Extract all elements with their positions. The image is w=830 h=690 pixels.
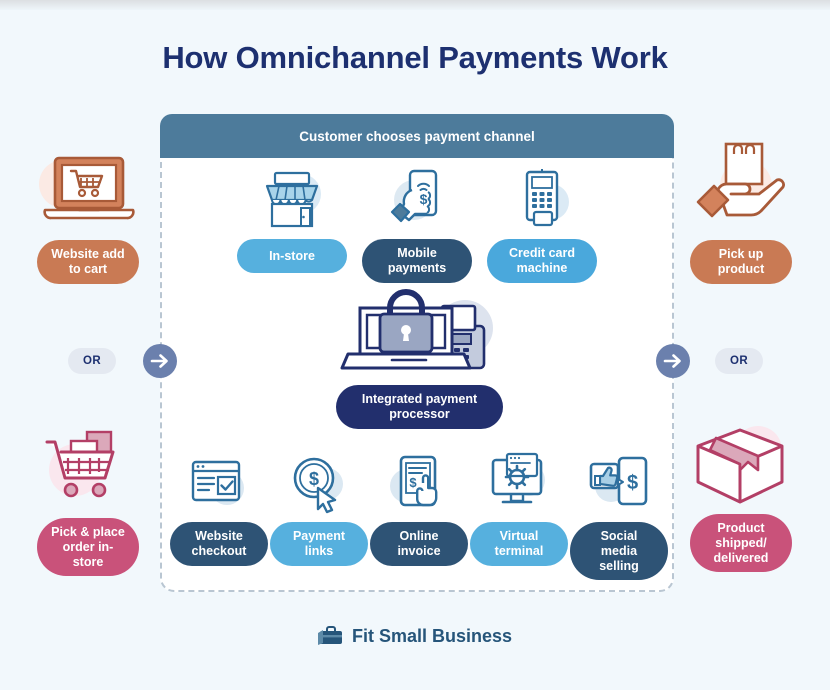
channel-in-store[interactable]: In-store (237, 168, 347, 273)
channel-credit-card-machine[interactable]: Credit card machine (487, 168, 597, 283)
browser-checklist-icon (185, 452, 253, 514)
storefront-icon (257, 168, 327, 230)
brand-name: Fit Small Business (352, 626, 512, 647)
channel-social-media-selling[interactable]: $ Social media selling (570, 452, 668, 580)
channel-online-invoice[interactable]: $ Online invoice (370, 452, 468, 566)
arrow-right-icon (656, 344, 690, 378)
page-title: How Omnichannel Payments Work (0, 40, 830, 76)
channel-credit-card-machine-label: Credit card machine (487, 239, 597, 283)
integrated-payment-processor[interactable]: Integrated payment processor (332, 290, 507, 429)
shipping-box-icon (688, 426, 794, 506)
arrow-right-icon (143, 344, 177, 378)
shopping-cart-icon (35, 430, 141, 510)
step-product-shipped-delivered[interactable]: Product shipped/ delivered (688, 426, 794, 572)
svg-text:$: $ (627, 472, 638, 494)
or-badge-right-label: OR (730, 355, 748, 367)
hand-bag-icon (688, 152, 794, 232)
channel-mobile-payments[interactable]: $ Mobile payments (362, 168, 472, 283)
step-pick-up-product-label: Pick up product (690, 240, 792, 284)
channel-website-checkout[interactable]: Website checkout (170, 452, 268, 566)
step-website-add-to-cart[interactable]: Website add to cart (35, 152, 141, 284)
tablet-invoice-hand-icon: $ (385, 452, 453, 514)
or-badge-left-label: OR (83, 355, 101, 367)
svg-text:$: $ (309, 469, 319, 489)
laptop-cart-icon (35, 152, 141, 232)
step-pick-place-order-in-store-label: Pick & place order in-store (37, 518, 139, 576)
channel-mobile-payments-label: Mobile payments (362, 239, 472, 283)
briefcase-icon (318, 625, 344, 647)
step-pick-up-product[interactable]: Pick up product (688, 152, 794, 284)
or-badge-right: OR (715, 348, 763, 374)
channel-virtual-terminal-label: Virtual terminal (470, 522, 568, 566)
coin-cursor-icon: $ (285, 452, 353, 514)
footer-brand: Fit Small Business (0, 625, 830, 647)
step-product-shipped-delivered-label: Product shipped/ delivered (690, 514, 792, 572)
channel-in-store-label: In-store (237, 239, 347, 273)
hand-phone-pay-icon: $ (382, 168, 452, 230)
channel-payment-links-label: Payment links (270, 522, 368, 566)
thumbs-up-phone-icon: $ (585, 452, 653, 514)
step-pick-place-order-in-store[interactable]: Pick & place order in-store (35, 430, 141, 576)
channel-payment-links[interactable]: $ Payment links (270, 452, 368, 566)
channel-social-media-selling-label: Social media selling (570, 522, 668, 580)
laptop-lock-terminal-icon (332, 290, 507, 378)
monitor-gear-icon (485, 452, 553, 514)
card-terminal-icon (507, 168, 577, 230)
or-badge-left: OR (68, 348, 116, 374)
panel-header: Customer chooses payment channel (160, 114, 674, 158)
channel-virtual-terminal[interactable]: Virtual terminal (470, 452, 568, 566)
step-website-add-to-cart-label: Website add to cart (37, 240, 139, 284)
integrated-payment-processor-label: Integrated payment processor (336, 385, 503, 429)
panel-header-label: Customer chooses payment channel (299, 129, 535, 144)
svg-text:$: $ (409, 475, 417, 490)
channel-website-checkout-label: Website checkout (170, 522, 268, 566)
top-gradient-strip (0, 0, 830, 10)
channel-online-invoice-label: Online invoice (370, 522, 468, 566)
